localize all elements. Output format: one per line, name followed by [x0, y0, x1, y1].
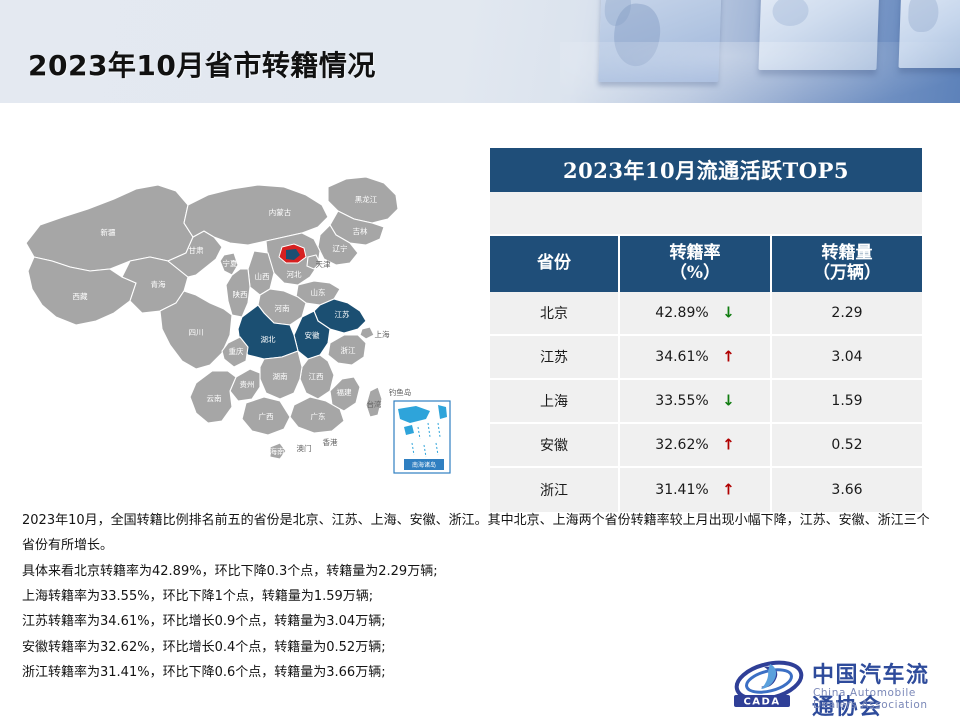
narrative-line: 具体来看北京转籍率为42.89%，环比下降0.3个点，转籍量为2.29万辆; — [22, 559, 942, 584]
cell-province: 江苏 — [490, 336, 620, 380]
map-label-qinghai: 青海 — [151, 279, 166, 289]
cell-rate: 42.89% ↓ — [620, 292, 772, 336]
cell-volume: 0.52 — [772, 424, 922, 468]
column-header-province: 省份 — [490, 236, 620, 292]
map-label-hubei: 湖北 — [261, 335, 276, 344]
cell-volume: 1.59 — [772, 380, 922, 424]
map-label-tianjin: 天津 — [316, 260, 331, 269]
table-row: 北京 42.89% ↓ 2.29 — [490, 292, 922, 336]
map-label-liaoning: 辽宁 — [333, 243, 348, 253]
cell-volume: 3.66 — [772, 468, 922, 512]
map-label-hongkong: 香港 — [323, 437, 338, 447]
map-label-jiangxi: 江西 — [309, 372, 324, 381]
map-label-macau: 澳门 — [297, 443, 312, 453]
trend-up-icon: ↑ — [722, 438, 735, 453]
map-label-ningxia: 宁夏 — [223, 258, 238, 268]
cell-volume: 3.04 — [772, 336, 922, 380]
map-province-shanghai — [360, 327, 374, 339]
header-band: 2023年10月省市转籍情况 — [0, 0, 960, 103]
map-label-neimenggu: 内蒙古 — [269, 207, 292, 217]
table-title-spacer — [490, 192, 922, 236]
map-label-chongqing: 重庆 — [229, 346, 244, 356]
table-title: 2023年10月流通活跃TOP5 — [490, 148, 922, 192]
map-label-zhejiang: 浙江 — [341, 345, 356, 355]
top5-table: 2023年10月流通活跃TOP5 省份 转籍率 （%） 转籍量 （万辆） 北京 … — [490, 148, 922, 512]
trend-down-icon: ↓ — [722, 394, 735, 409]
china-map: 新疆 西藏 青海 甘肃 内蒙古 黑龙江 吉林 辽宁 河北 天津 山西 宁夏 陕西… — [18, 165, 468, 490]
cell-province: 浙江 — [490, 468, 620, 512]
trend-up-icon: ↑ — [722, 350, 735, 365]
table-header-row: 省份 转籍率 （%） 转籍量 （万辆） — [490, 236, 922, 292]
map-label-hebei: 河北 — [287, 270, 302, 279]
trend-up-icon: ↑ — [722, 483, 735, 498]
cell-rate: 33.55% ↓ — [620, 380, 772, 424]
logo-name-en: China Automobile Dealers Association — [813, 687, 945, 711]
cada-emblem-icon: CADA — [730, 657, 808, 709]
cell-province: 上海 — [490, 380, 620, 424]
map-label-xinjiang: 新疆 — [101, 227, 116, 237]
column-header-rate: 转籍率 （%） — [620, 236, 772, 292]
cell-volume: 2.29 — [772, 292, 922, 336]
table-body: 北京 42.89% ↓ 2.29 江苏 34.61% ↑ 3.04 上海 — [490, 292, 922, 512]
map-label-guangxi: 广西 — [259, 411, 274, 421]
table-row: 浙江 31.41% ↑ 3.66 — [490, 468, 922, 512]
map-label-guangdong: 广东 — [311, 411, 326, 421]
narrative-line: 2023年10月，全国转籍比例排名前五的省份是北京、江苏、上海、安徽、浙江。其中… — [22, 508, 942, 559]
map-label-henan: 河南 — [275, 303, 290, 313]
cell-rate: 31.41% ↑ — [620, 468, 772, 512]
map-label-hunan: 湖南 — [273, 371, 288, 381]
map-label-fujian: 福建 — [337, 387, 352, 397]
map-label-hainan: 海南 — [270, 446, 285, 456]
cada-logo: CADA 中国汽车流通协会 China Automobile Dealers A… — [730, 655, 945, 713]
south-china-sea-inset: 南海诸岛 — [394, 401, 450, 473]
map-label-sichuan: 四川 — [189, 328, 204, 337]
narrative-line: 江苏转籍率为34.61%，环比增长0.9个点，转籍量为3.04万辆; — [22, 609, 942, 634]
header-glow — [560, 42, 960, 103]
map-label-shaanxi: 陕西 — [233, 289, 248, 299]
map-label-tibet: 西藏 — [73, 291, 88, 301]
trend-down-icon: ↓ — [722, 306, 735, 321]
cell-rate: 32.62% ↑ — [620, 424, 772, 468]
map-label-jilin: 吉林 — [353, 226, 368, 236]
map-label-guizhou: 贵州 — [240, 379, 255, 389]
map-label-heilongjiang: 黑龙江 — [355, 194, 378, 204]
page-title: 2023年10月省市转籍情况 — [28, 44, 376, 84]
table-row: 安徽 32.62% ↑ 0.52 — [490, 424, 922, 468]
map-label-yunnan: 云南 — [207, 393, 222, 403]
inset-label: 南海诸岛 — [412, 461, 436, 469]
map-label-shanghai: 上海 — [375, 329, 390, 339]
map-label-anhui: 安徽 — [305, 330, 320, 340]
narrative-line: 上海转籍率为33.55%，环比下降1个点，转籍量为1.59万辆; — [22, 584, 942, 609]
table-row: 江苏 34.61% ↑ 3.04 — [490, 336, 922, 380]
cell-province: 北京 — [490, 292, 620, 336]
svg-text:CADA: CADA — [743, 697, 780, 708]
map-label-shandong: 山东 — [311, 287, 326, 297]
table-row: 上海 33.55% ↓ 1.59 — [490, 380, 922, 424]
map-label-taiwan: 台湾 — [367, 399, 382, 409]
cell-rate: 34.61% ↑ — [620, 336, 772, 380]
column-header-volume: 转籍量 （万辆） — [772, 236, 922, 292]
map-label-diaoyudao: 钓鱼岛 — [389, 387, 412, 397]
map-label-gansu: 甘肃 — [189, 245, 204, 255]
map-label-jiangsu: 江苏 — [335, 309, 350, 319]
map-label-shanxi: 山西 — [255, 271, 270, 281]
cell-province: 安徽 — [490, 424, 620, 468]
